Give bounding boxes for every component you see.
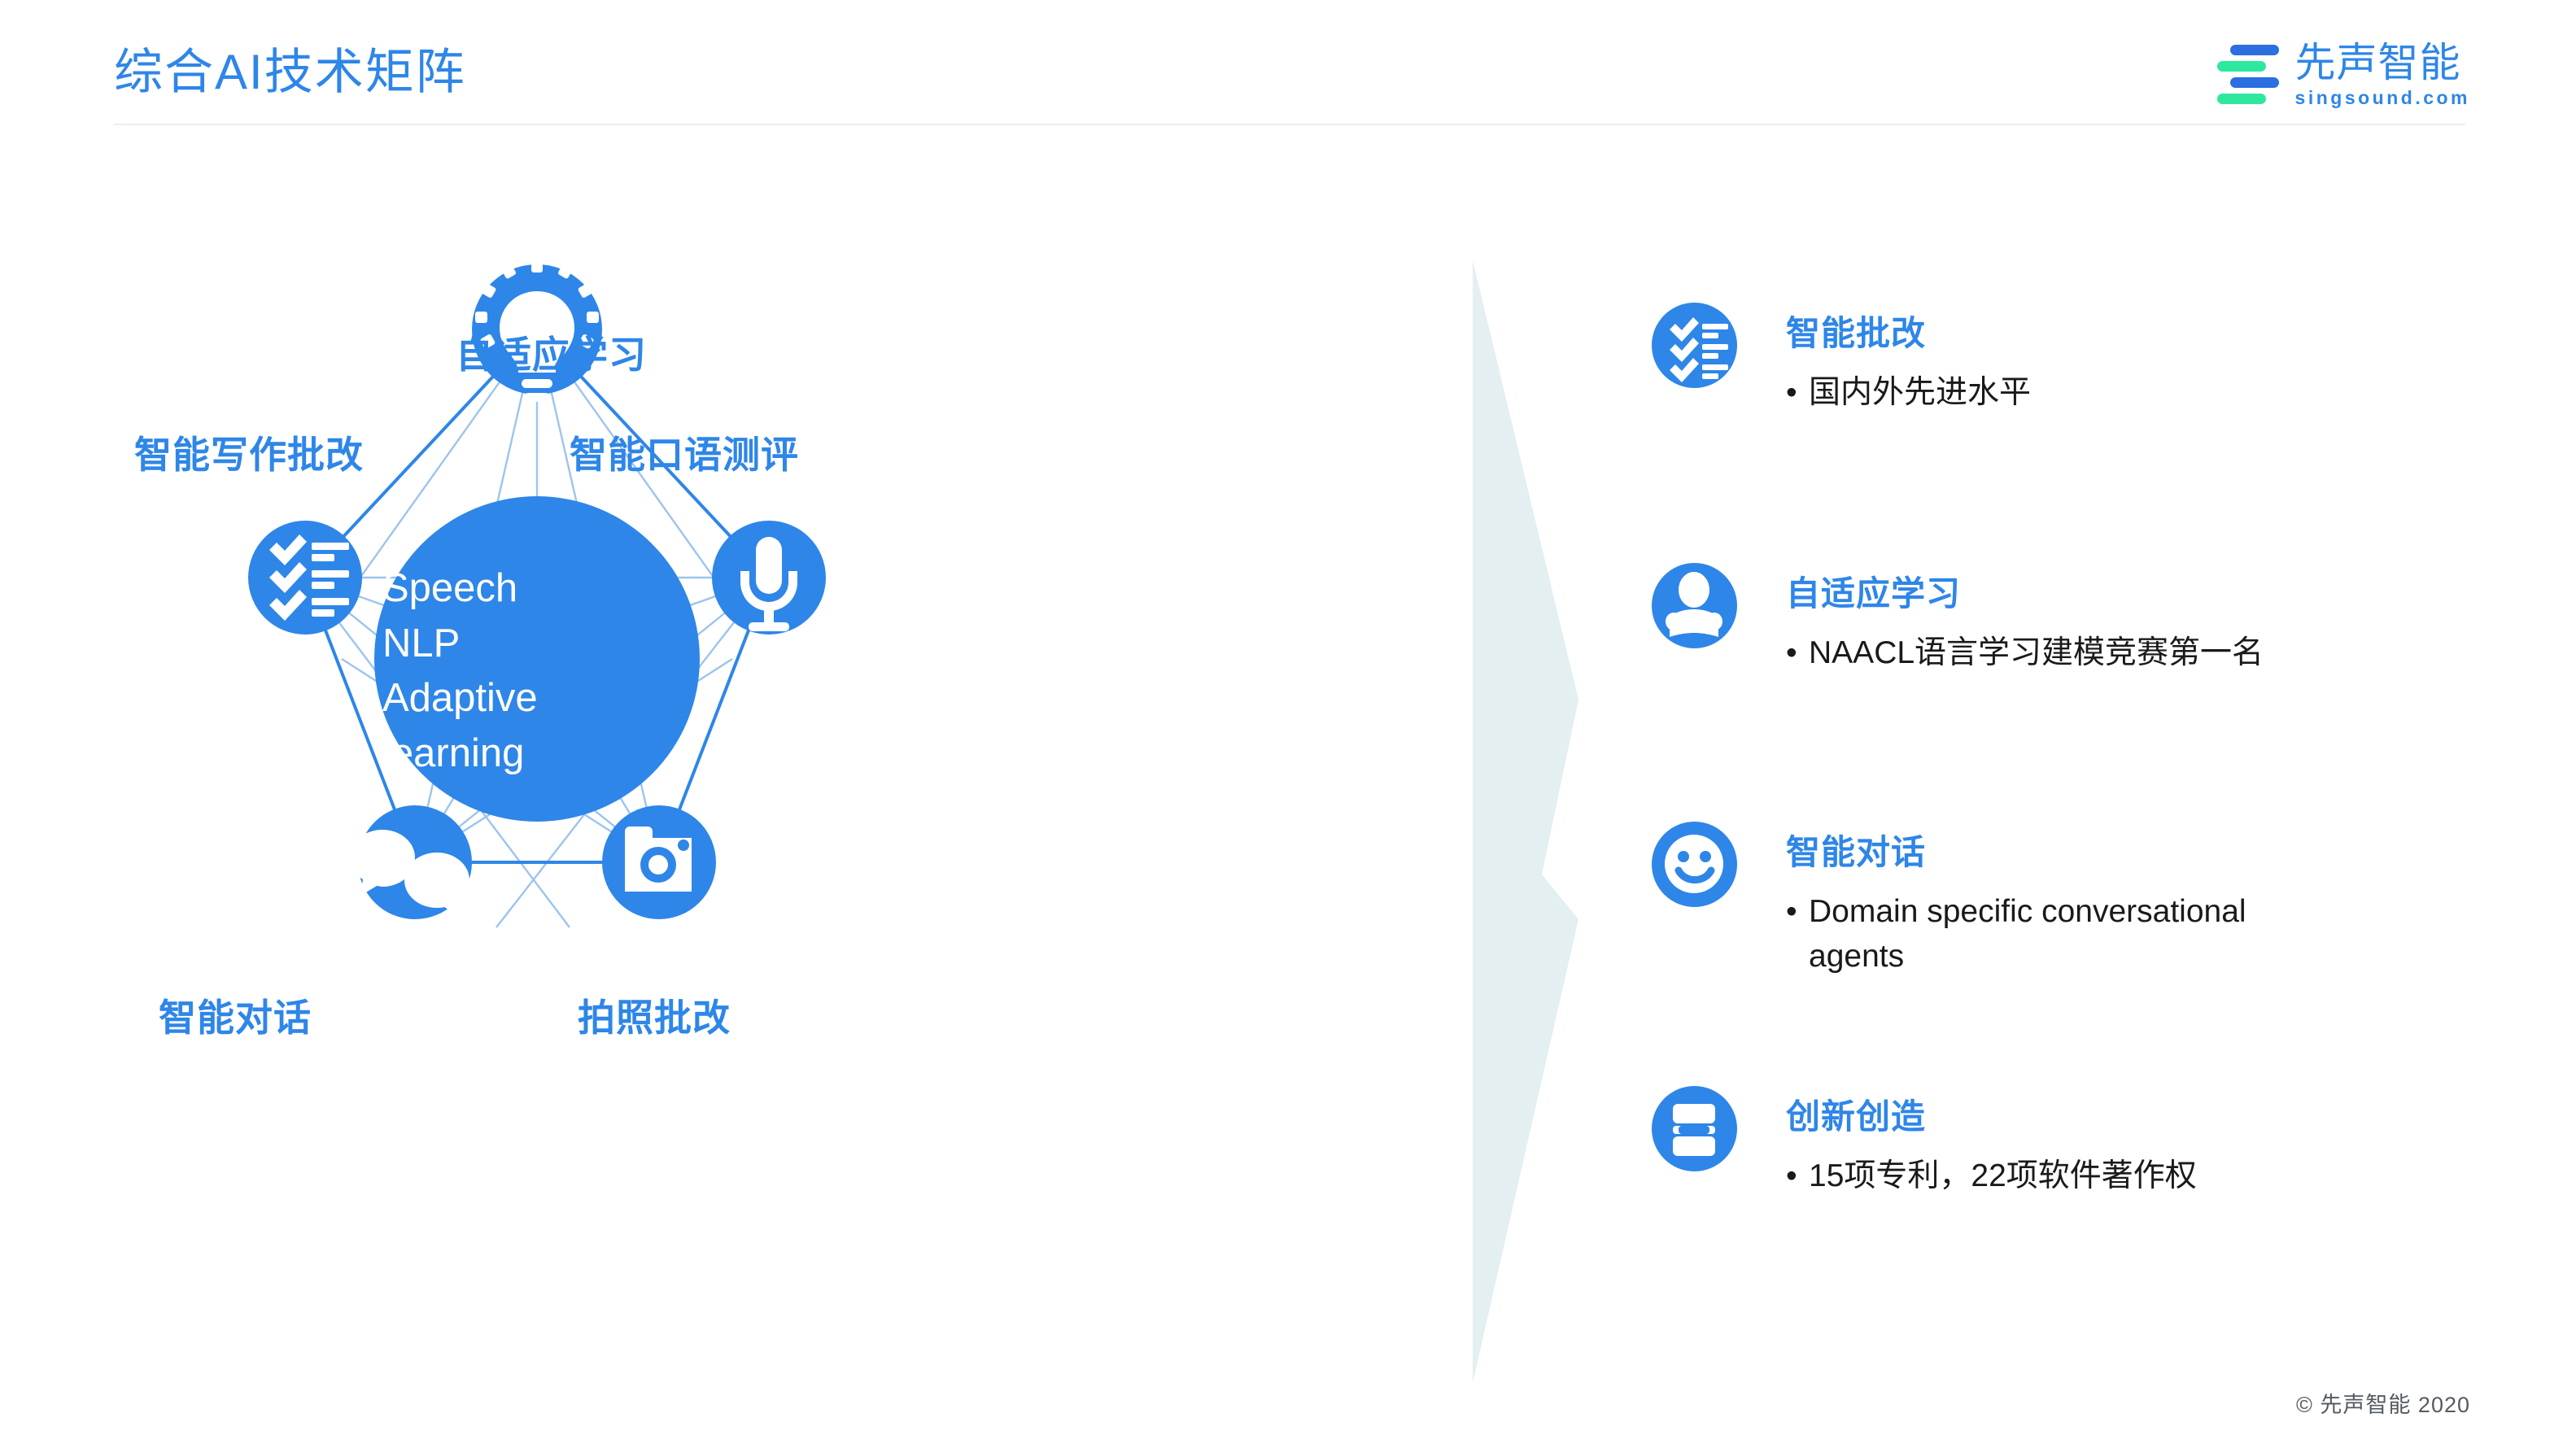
center-list-item: · Speech (358, 561, 561, 617)
feature-bullet: • Domain specific conversational agents (1786, 889, 2313, 979)
logo-bars-icon (2217, 45, 2281, 105)
header-divider (114, 124, 2465, 125)
center-item-label: NLP (382, 617, 460, 672)
feature-title: 自适应学习 (1786, 566, 2264, 616)
bullet-dot: · (358, 617, 369, 672)
feature-body: 智能对话 • Domain specific conversational ag… (1786, 822, 2313, 979)
feature-bullet-text: NAACL语言学习建模竞赛第一名 (1809, 630, 2264, 675)
chevron-divider (1432, 244, 1676, 1383)
node-label-intelligent-dialog: 智能对话 (159, 988, 312, 1042)
center-item-label: Adaptive learning (382, 671, 561, 781)
bullet-dot: • (1786, 630, 1796, 675)
feature-title: 智能对话 (1786, 825, 2313, 874)
node-label-writing-correction: 智能写作批改 (134, 425, 364, 479)
bullet-dot: · (358, 671, 369, 781)
feature-title: 创新创造 (1786, 1089, 2197, 1139)
center-list-item: · NLP (358, 617, 561, 672)
logo-text: 先声智能 singsound.com (2295, 42, 2470, 107)
checklist-icon (1652, 303, 1737, 388)
books-stack-icon (1652, 1086, 1737, 1171)
feature-item-intelligent-dialog: 智能对话 • Domain specific conversational ag… (1652, 822, 2313, 979)
feature-body: 创新创造 • 15项专利，22项软件著作权 (1786, 1086, 2197, 1198)
feature-bullet: • NAACL语言学习建模竞赛第一名 (1786, 630, 2264, 675)
node-speaking-assessment[interactable] (712, 521, 826, 635)
footer-copyright: © 先声智能 2020 (2296, 1387, 2470, 1419)
feature-bullet: • 国内外先进水平 (1786, 370, 2031, 415)
feature-bullet: • 15项专利，22项软件著作权 (1786, 1154, 2197, 1198)
feature-item-adaptive-learning: 自适应学习 • NAACL语言学习建模竞赛第一名 (1652, 563, 2264, 675)
node-intelligent-dialog[interactable] (350, 805, 472, 919)
feature-bullet-text: 15项专利，22项软件著作权 (1809, 1154, 2197, 1198)
person-reading-icon (1652, 563, 1737, 648)
bullet-dot: • (1786, 889, 1796, 979)
feature-item-innovation: 创新创造 • 15项专利，22项软件著作权 (1652, 1086, 2197, 1198)
feature-item-smart-correction: 智能批改 • 国内外先进水平 (1652, 303, 2031, 415)
page-title: 综合AI技术矩阵 (114, 33, 466, 103)
bullet-dot: • (1786, 370, 1796, 415)
node-label-adaptive-learning: 自适应学习 (456, 325, 647, 379)
logo-company-name: 先声智能 (2295, 42, 2470, 83)
node-label-photo-correction: 拍照批改 (578, 988, 731, 1042)
node-photo-correction[interactable] (602, 805, 716, 919)
feature-bullet-text: 国内外先进水平 (1809, 370, 2031, 415)
brand-logo: 先声智能 singsound.com (2217, 42, 2470, 107)
bullet-dot: • (1786, 1154, 1796, 1198)
feature-body: 智能批改 • 国内外先进水平 (1786, 303, 2031, 415)
network-graph-svg (114, 203, 1562, 1367)
feature-body: 自适应学习 • NAACL语言学习建模竞赛第一名 (1786, 563, 2264, 675)
slide-header: 综合AI技术矩阵 先声智能 singsound.com (0, 0, 2576, 138)
bullet-dot: · (358, 561, 369, 617)
node-writing-correction[interactable] (248, 521, 362, 635)
center-list-item: · Adaptive learning (358, 671, 561, 781)
node-label-speaking-assessment: 智能口语测评 (570, 425, 799, 479)
logo-domain: singsound.com (2295, 89, 2470, 107)
center-capabilities-list: · Speech · NLP · Adaptive learning (358, 561, 561, 781)
technology-network-diagram: 自适应学习 智能写作批改 智能口语测评 智能对话 拍照批改 · Speech ·… (114, 203, 1562, 1367)
feature-bullet-text: Domain specific conversational agents (1809, 889, 2313, 979)
feature-title: 智能批改 (1786, 306, 2031, 355)
center-item-label: Speech (382, 561, 517, 617)
smiley-face-icon (1652, 822, 1737, 907)
